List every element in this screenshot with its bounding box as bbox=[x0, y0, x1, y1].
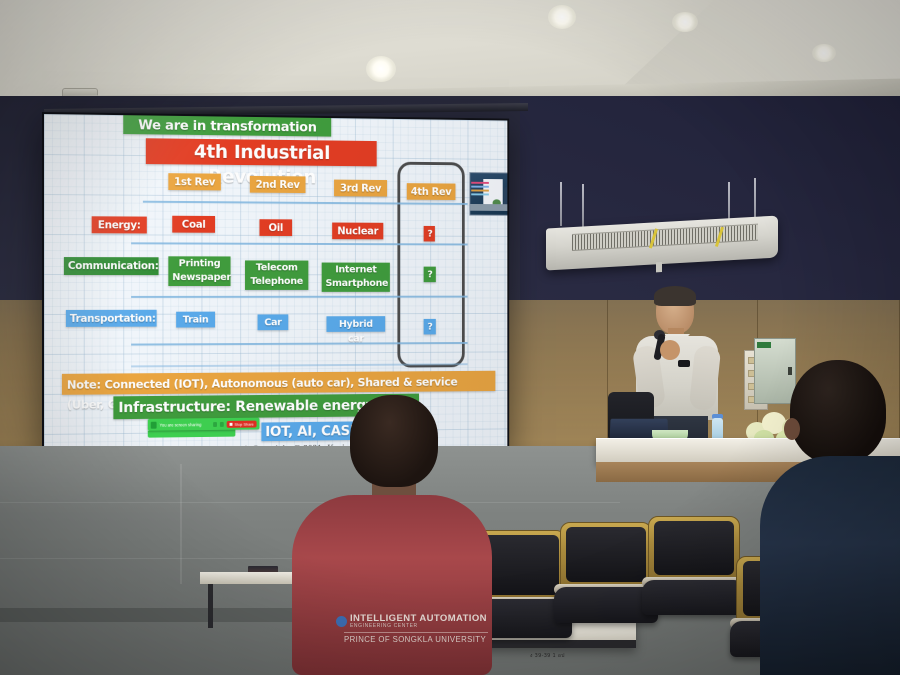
share-status-text: You are screen sharing bbox=[160, 422, 211, 428]
ceiling-downlight bbox=[548, 5, 576, 29]
cell-energy-3rd: Nuclear bbox=[332, 223, 383, 240]
shirt-text-line3: PRINCE OF SONGKLA UNIVERSITY bbox=[344, 635, 486, 644]
row-label-energy: Energy: bbox=[92, 216, 147, 233]
cell-transportation-2nd: Car bbox=[258, 314, 289, 330]
cell-communication-1st: Printing Newspaper bbox=[168, 256, 230, 286]
column-header-3rd-rev: 3rd Rev bbox=[334, 180, 387, 197]
share-bar-tail bbox=[148, 430, 236, 438]
audience-person-right bbox=[770, 360, 900, 675]
slide-note: Note: Connected (IOT), Autonomous (auto … bbox=[62, 371, 495, 395]
cell-energy-2nd: Oil bbox=[259, 219, 292, 236]
ceiling-downlight bbox=[366, 56, 396, 82]
cell-transportation-1st: Train bbox=[176, 312, 215, 328]
stop-share-label: Stop Share bbox=[234, 421, 253, 426]
ceiling-downlight bbox=[672, 12, 698, 32]
audience-person-front: INTELLIGENT AUTOMATION ENGINEERING CENTE… bbox=[292, 395, 492, 675]
cell-communication-4th: ? bbox=[424, 267, 436, 283]
column-header-4th-rev: 4th Rev bbox=[407, 183, 456, 200]
person-ear bbox=[784, 418, 800, 440]
person-shirt: INTELLIGENT AUTOMATION ENGINEERING CENTE… bbox=[292, 495, 492, 675]
presenter-hand bbox=[660, 340, 680, 360]
cell-energy-4th: ? bbox=[424, 226, 435, 242]
cell-communication-2nd: Telecom Telephone bbox=[245, 260, 308, 290]
column-header-2nd-rev: 2nd Rev bbox=[250, 176, 306, 193]
person-head bbox=[790, 360, 886, 464]
shirt-text-line2: ENGINEERING CENTER bbox=[350, 623, 418, 629]
cell-transportation-4th: ? bbox=[424, 319, 436, 335]
slide-banner: We are in transformation time! bbox=[123, 115, 331, 136]
person-head bbox=[350, 395, 438, 487]
shirt-rule bbox=[344, 632, 488, 633]
stop-share-button[interactable]: Stop Share bbox=[227, 420, 257, 427]
slide-title: 4th Industrial Revolution bbox=[146, 138, 377, 166]
ac-drain bbox=[656, 262, 662, 272]
video-icon[interactable] bbox=[220, 421, 224, 426]
cell-transportation-3rd: Hybrid car bbox=[326, 316, 385, 332]
ceiling-downlight bbox=[812, 44, 836, 62]
row-label-communication: Communication: bbox=[64, 257, 159, 275]
cell-communication-3rd: Internet Smartphone bbox=[322, 263, 390, 292]
stop-square-icon bbox=[230, 422, 233, 425]
column-header-1st-rev: 1st Rev bbox=[168, 173, 221, 190]
cell-energy-1st: Coal bbox=[172, 216, 215, 233]
logo-dot-icon bbox=[336, 616, 347, 627]
presenter-hair bbox=[654, 286, 696, 306]
row-label-transportation: Transportation: bbox=[66, 310, 157, 327]
screen-share-bar[interactable]: You are screen sharing Stop Share bbox=[148, 418, 260, 431]
banquet-chair[interactable] bbox=[648, 516, 740, 634]
ceiling bbox=[0, 0, 900, 108]
wristwatch bbox=[678, 360, 690, 367]
share-icon bbox=[151, 421, 157, 428]
audio-icon[interactable] bbox=[213, 422, 217, 427]
person-shirt bbox=[760, 456, 900, 675]
banquet-chair[interactable] bbox=[560, 522, 652, 642]
video-thumbnail bbox=[469, 172, 507, 216]
ac-grill bbox=[572, 224, 758, 251]
photo-scene: We are in transformation time! 4th Indus… bbox=[0, 0, 900, 675]
